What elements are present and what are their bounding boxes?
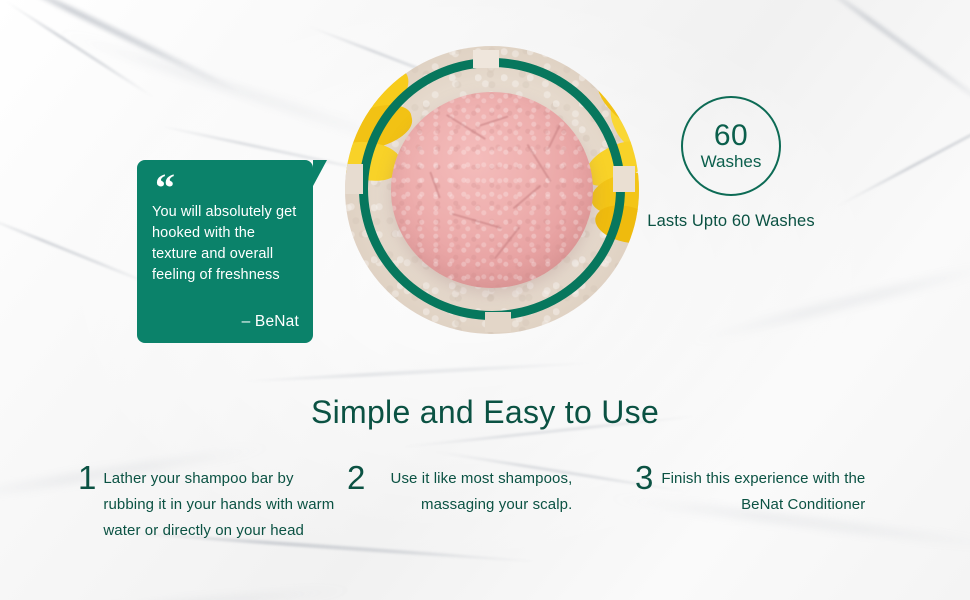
washes-caption: Lasts Upto 60 Washes bbox=[620, 210, 842, 233]
product-photo bbox=[345, 46, 639, 334]
shampoo-bar bbox=[391, 92, 593, 288]
ring-gap bbox=[345, 164, 363, 194]
quote-text: You will absolutely get hooked with the … bbox=[152, 202, 302, 286]
step-number: 1 bbox=[78, 463, 96, 493]
step-text: Use it like most shampoos, massaging you… bbox=[372, 466, 572, 518]
washes-badge-circle: 60 Washes bbox=[681, 96, 781, 196]
ring-gap bbox=[485, 312, 511, 332]
washes-badge: 60 Washes Lasts Upto 60 Washes bbox=[620, 96, 842, 233]
step-item: 3 Finish this experience with the BeNat … bbox=[625, 466, 915, 544]
ring-gap bbox=[473, 50, 499, 68]
step-item: 1 Lather your shampoo bar by rubbing it … bbox=[0, 466, 335, 544]
step-item: 2 Use it like most shampoos, massaging y… bbox=[335, 466, 625, 544]
washes-unit: Washes bbox=[701, 152, 762, 171]
steps-list: 1 Lather your shampoo bar by rubbing it … bbox=[0, 466, 970, 544]
washes-count: 60 bbox=[714, 121, 748, 151]
quote-author: – BeNat bbox=[242, 313, 299, 331]
quote-callout: “ You will absolutely get hooked with th… bbox=[137, 160, 313, 343]
quote-callout-tail bbox=[313, 160, 327, 186]
step-number: 3 bbox=[635, 463, 653, 493]
marketing-banner: “ You will absolutely get hooked with th… bbox=[0, 0, 970, 600]
step-number: 2 bbox=[347, 463, 365, 493]
section-headline: Simple and Easy to Use bbox=[0, 393, 970, 431]
step-text: Lather your shampoo bar by rubbing it in… bbox=[103, 466, 335, 544]
step-text: Finish this experience with the BeNat Co… bbox=[660, 466, 865, 518]
